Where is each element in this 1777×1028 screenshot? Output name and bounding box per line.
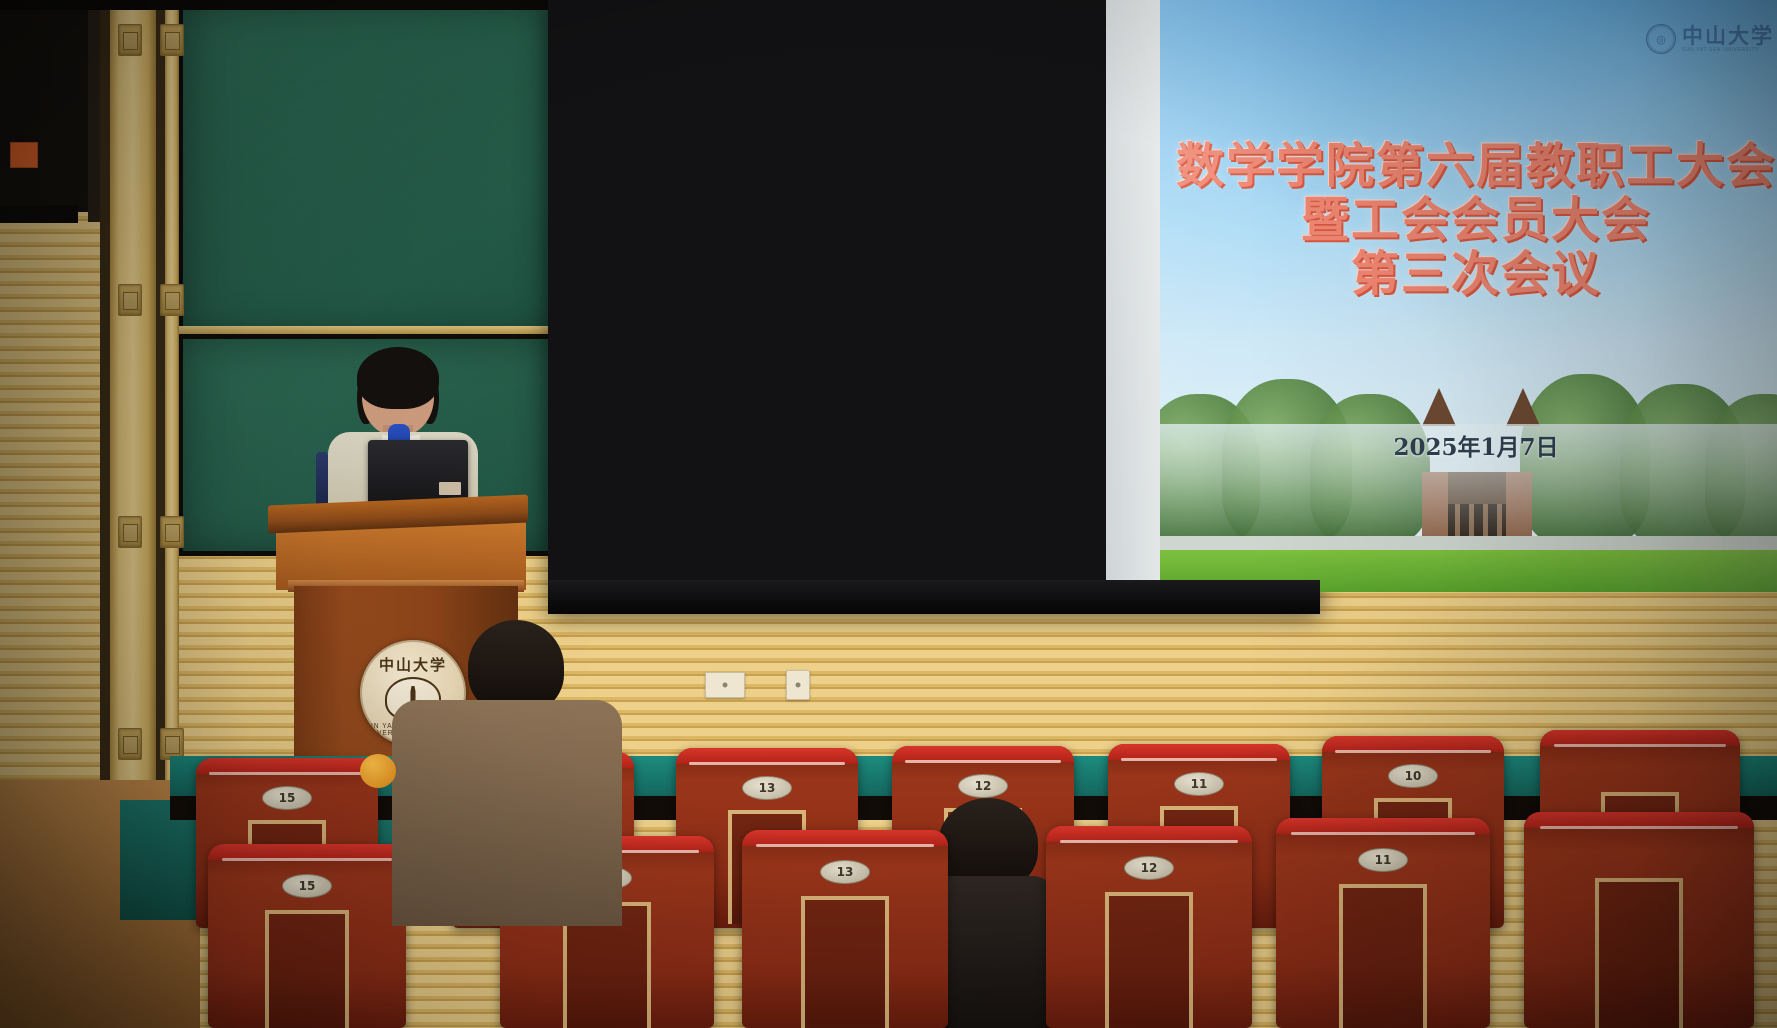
seat-number-plate: 10 [1388, 764, 1438, 788]
slide-campus-photo [1160, 342, 1777, 592]
door-hinge-icon-top-left [118, 24, 142, 56]
seat-number-plate: 13 [742, 776, 792, 800]
photo-scene: ◎ 中山大学 SUN YAT-SEN UNIVERSITY 数学学院第六届教职工… [0, 0, 1777, 1028]
seat-front-3[interactable]: 13 [742, 830, 948, 1028]
university-seal-icon: ◎ [1646, 24, 1676, 54]
seat-front-4[interactable]: 12 [1046, 826, 1252, 1028]
university-logo-text: 中山大学 SUN YAT-SEN UNIVERSITY [1682, 25, 1774, 53]
slide-title-line-3: 第三次会议 [1160, 248, 1777, 302]
chalkboard-left-upper [178, 0, 560, 340]
orange-object-on-ledge [360, 754, 396, 788]
campus-building-roof-right [1506, 388, 1540, 426]
seat-number-plate: 15 [282, 874, 332, 898]
exit-sign [10, 142, 38, 168]
campus-building-roof-left [1422, 388, 1456, 426]
door-hinge-icon-bottom-left [118, 728, 142, 760]
slide-date: 2025年1月7日 [1160, 428, 1777, 462]
seat-slot [1339, 884, 1427, 1028]
laptop-sticker [439, 482, 461, 495]
microphone-stand [316, 452, 328, 510]
seat-slot [801, 896, 889, 1028]
slide-title-line-2: 暨工会会员大会 [1160, 194, 1777, 248]
slide-university-logo: ◎ 中山大学 SUN YAT-SEN UNIVERSITY [1646, 24, 1774, 54]
attendee-body-brown-jacket [392, 700, 622, 926]
seat-front-5[interactable]: 11 [1276, 818, 1490, 1028]
light-switch[interactable] [786, 670, 810, 700]
seat-number-plate: 15 [262, 786, 312, 810]
presentation-slide: ◎ 中山大学 SUN YAT-SEN UNIVERSITY 数学学院第六届教职工… [1160, 0, 1777, 592]
seat-slot [1105, 892, 1193, 1028]
podium-emblem-cn: 中山大学 [379, 654, 447, 675]
seat-slot [265, 910, 349, 1028]
seat-number-plate: 12 [958, 774, 1008, 798]
doorway-dark [0, 0, 92, 212]
seat-number-plate: 12 [1124, 856, 1174, 880]
door-hinge-icon-low-right [160, 516, 184, 548]
screen-left-margin [1106, 0, 1162, 592]
door-hinge-icon-low-left [118, 516, 142, 548]
university-name-cn: 中山大学 [1682, 25, 1774, 46]
seat-front-1[interactable]: 15 [208, 844, 406, 1028]
slide-title: 数学学院第六届教职工大会 暨工会会员大会 第三次会议 [1160, 140, 1777, 301]
seat-front-6[interactable] [1524, 812, 1754, 1028]
projection-screen: ◎ 中山大学 SUN YAT-SEN UNIVERSITY 数学学院第六届教职工… [548, 0, 1320, 612]
seat-number-plate: 11 [1174, 772, 1224, 796]
door-hinge-icon-top-right [160, 24, 184, 56]
door-hinge-icon-mid-left [118, 284, 142, 316]
seat-number-plate: 11 [1358, 848, 1408, 872]
speaker-hair [357, 347, 439, 409]
seat-slot [1595, 878, 1683, 1028]
university-name-en: SUN YAT-SEN UNIVERSITY [1682, 48, 1774, 53]
campus-path [1160, 536, 1777, 550]
door-hinge-icon-mid-right [160, 284, 184, 316]
screen-bottom-bar [548, 580, 1320, 614]
slide-title-line-1: 数学学院第六届教职工大会 [1176, 138, 1776, 194]
seat-number-plate: 13 [820, 860, 870, 884]
doorway-dark-lower [0, 205, 78, 223]
wall-socket[interactable] [705, 672, 745, 698]
